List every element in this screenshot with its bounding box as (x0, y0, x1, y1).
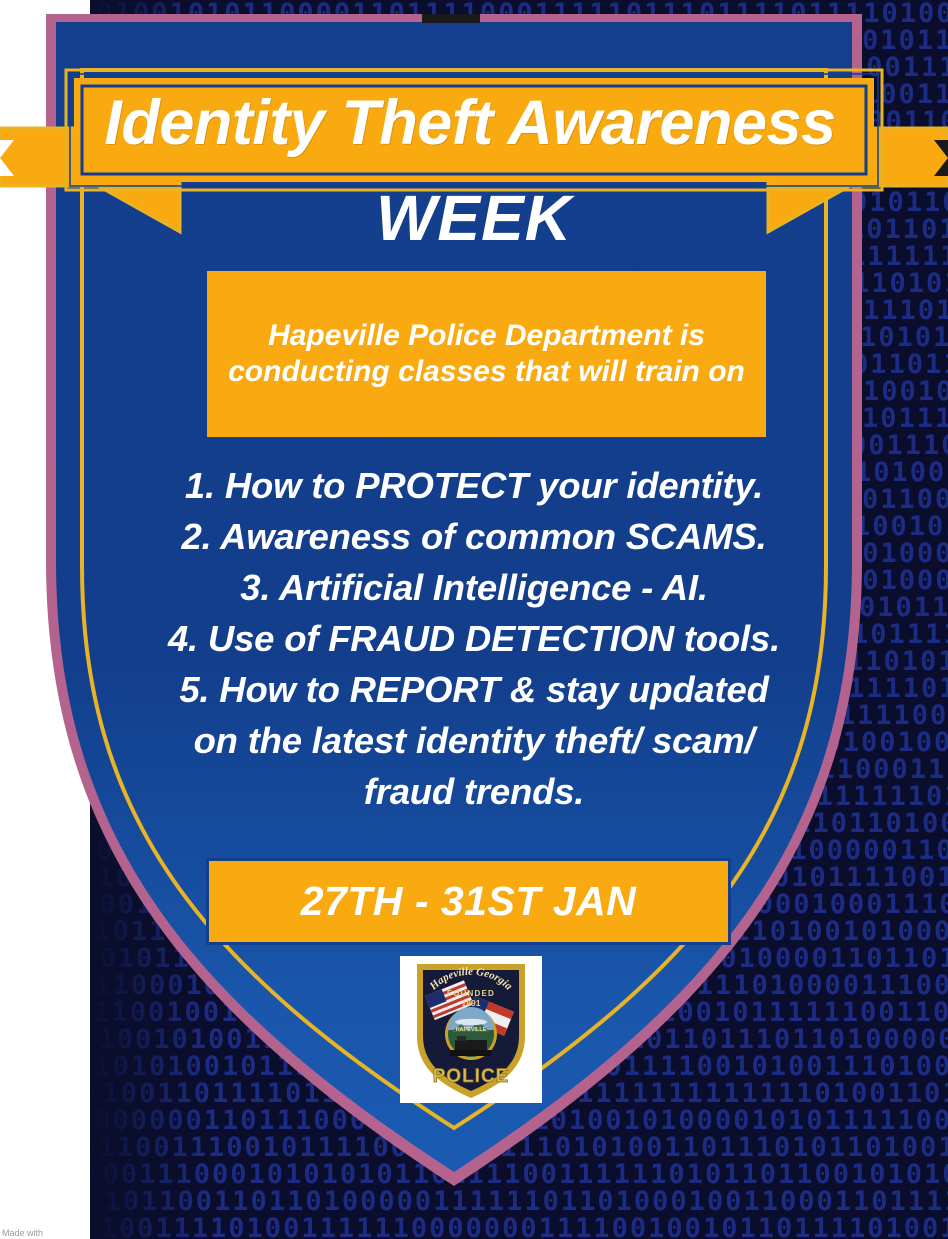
hapeville-police-badge-icon: HAPEVILLE FOUNDED 1891 Hapeville Georgia… (409, 960, 533, 1099)
list-item: 4. Use of FRAUD DETECTION tools. (40, 613, 908, 664)
list-item: 5. How to REPORT & stay updated (40, 664, 908, 715)
badge-founded-year: 1891 (462, 998, 481, 1008)
badge-bottom-text: POLICE (433, 1066, 510, 1087)
binary-row: 0110011110100111111000000011110010010110… (88, 1215, 948, 1239)
list-item: 2. Awareness of common SCAMS. (40, 511, 908, 562)
subtitle-box: Hapeville Police Department is conductin… (204, 268, 769, 440)
poster-title-line2: WEEK (0, 186, 948, 250)
police-badge-card: HAPEVILLE FOUNDED 1891 Hapeville Georgia… (400, 956, 542, 1103)
list-item: 1. How to PROTECT your identity. (40, 460, 908, 511)
list-item: on the latest identity theft/ scam/ (40, 715, 908, 766)
poster-title: Identity Theft Awareness (70, 74, 870, 172)
poster-canvas: 1001001010110000110111100011111011101111… (0, 0, 948, 1239)
subtitle-text: Hapeville Police Department is conductin… (207, 318, 766, 390)
training-topics-list: 1. How to PROTECT your identity. 2. Awar… (40, 460, 908, 817)
date-box: 27TH - 31ST JAN (206, 858, 731, 945)
list-item: 3. Artificial Intelligence - AI. (40, 562, 908, 613)
badge-center-text: HAPEVILLE (456, 1027, 487, 1033)
watermark-text: Made with (2, 1228, 43, 1238)
list-item: fraud trends. (40, 766, 908, 817)
date-range-text: 27TH - 31ST JAN (301, 878, 637, 925)
badge-founded-label: FOUNDED (447, 989, 495, 998)
